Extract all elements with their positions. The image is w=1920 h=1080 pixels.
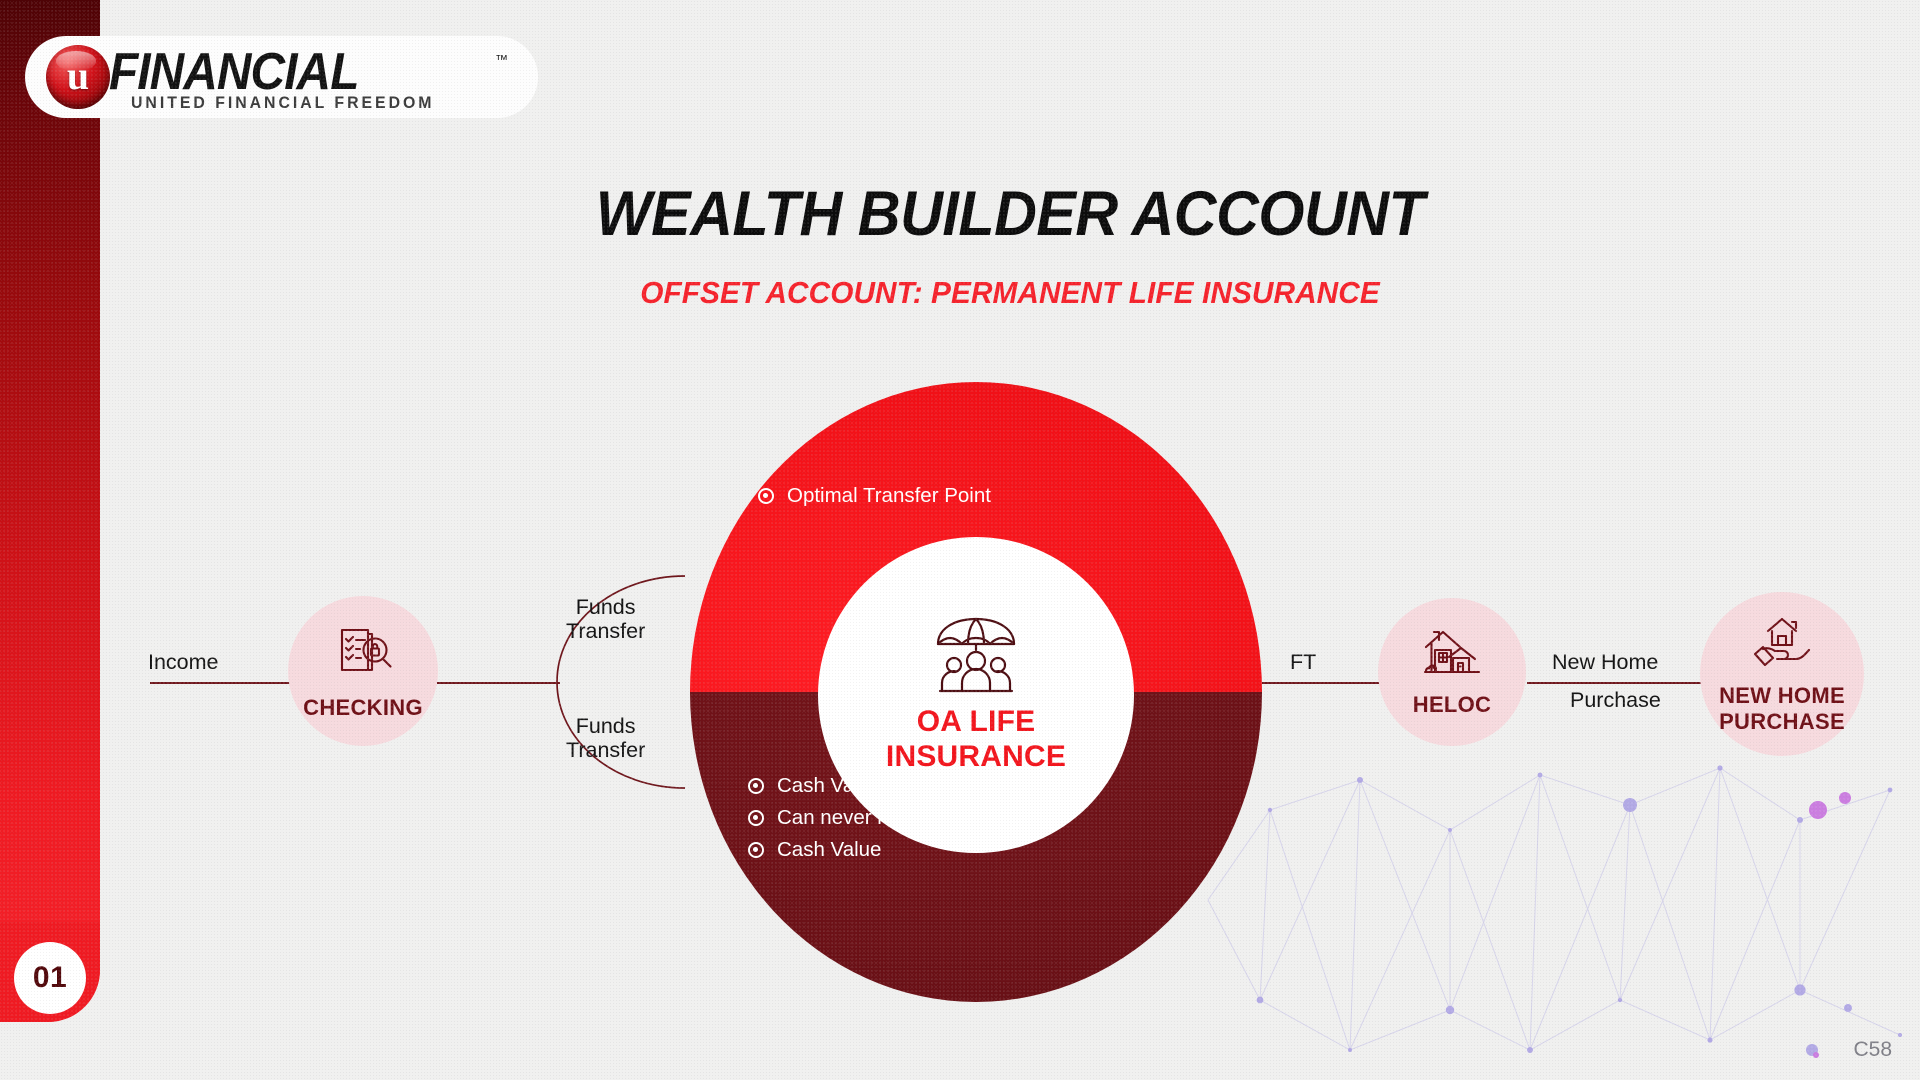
bullet-text: Cash Value continues to grow [777,774,1048,798]
funds-transfer-lower-line1: Funds [566,714,645,738]
page-subtitle: OFFSET ACCOUNT: PERMANENT LIFE INSURANCE [136,275,1883,311]
hub-circle: OA LIFE INSURANCE [690,382,1262,1002]
target-dot-icon [748,778,764,794]
connector-line-heloc-to-newhome [1527,682,1702,684]
connector-label-purchase: Purchase [1570,688,1661,713]
connector-line-income [150,682,290,684]
funds-transfer-lower-line2: Transfer [566,738,645,762]
house-chimney-icon [1423,627,1481,686]
logo-wordmark: FINANCIAL [109,42,358,102]
hand-holding-house-icon [1751,614,1813,677]
node-heloc[interactable]: HELOC [1378,598,1526,746]
list-item: Can never lose Principal [748,802,1048,834]
hub-top-bullet-list: Optimal Transfer Point [758,480,991,512]
connector-label-funds-transfer-lower: Funds Transfer [566,714,645,763]
slide-number-badge: 01 [14,942,86,1014]
network-constellation-decoration [1200,750,1920,1080]
funds-transfer-upper-line2: Transfer [566,619,645,643]
target-dot-icon [748,810,764,826]
funds-transfer-upper-line1: Funds [566,595,645,619]
node-new-home-label-line2: PURCHASE [1719,709,1845,734]
target-dot-icon [748,842,764,858]
target-dot-icon [758,488,774,504]
umbrella-family-icon [932,616,1020,701]
node-checking-label: CHECKING [303,695,423,720]
logo-tagline: UNITED FINANCIAL FREEDOM [131,94,434,113]
left-accent-sidebar [0,0,100,1022]
list-item: Cash Value [748,834,1048,866]
logo-badge-letter: u [67,56,89,96]
connector-label-ft: FT [1290,650,1316,675]
company-logo[interactable]: u FINANCIAL ™ UNITED FINANCIAL FREEDOM [25,36,538,118]
logo-u-badge-icon: u [46,45,110,109]
node-new-home-label: NEW HOME PURCHASE [1719,683,1845,733]
connector-line-hub-to-heloc [1262,682,1380,684]
node-new-home-label-line1: NEW HOME [1719,683,1845,708]
bullet-text: Cash Value [777,838,881,862]
node-heloc-label: HELOC [1413,692,1492,717]
page-title: WEALTH BUILDER ACCOUNT [155,178,1866,250]
connector-label-new-home: New Home [1552,650,1658,675]
hub-bottom-bullet-list: Cash Value continues to grow Can never l… [748,770,1048,866]
connector-label-income: Income [148,650,219,675]
node-new-home-purchase[interactable]: NEW HOME PURCHASE [1700,592,1864,756]
slide-canvas: 01 u FINANCIAL ™ UNITED FINANCIAL FREEDO… [0,0,1920,1080]
logo-trademark: ™ [495,52,508,67]
checklist-lock-search-icon [332,622,394,689]
hub-label-line1: OA LIFE [886,705,1066,740]
bullet-text: Can never lose Principal [777,806,999,830]
node-checking[interactable]: CHECKING [288,596,438,746]
list-item: Cash Value continues to grow [748,770,1048,802]
slide-code-label: C58 [1853,1038,1892,1062]
list-item: Optimal Transfer Point [758,480,991,512]
bullet-text: Optimal Transfer Point [787,484,991,508]
slide-number-text: 01 [33,961,67,995]
connector-label-funds-transfer-upper: Funds Transfer [566,595,645,644]
connector-line-checking-to-hub [437,682,560,684]
